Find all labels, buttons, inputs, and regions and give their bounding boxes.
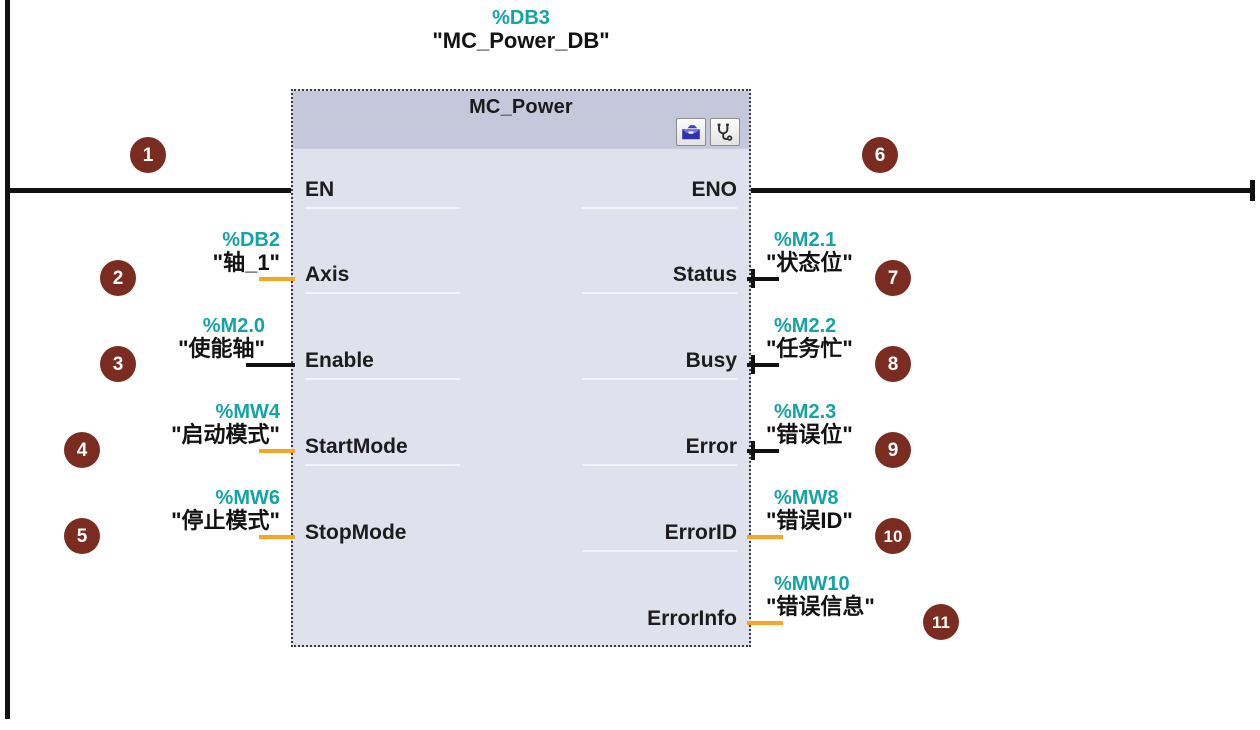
pin-label-stopmode: StopMode <box>305 521 406 545</box>
wire-enable <box>246 363 295 367</box>
rung-en-wire <box>8 188 293 193</box>
db-address: %DB3 <box>291 8 751 29</box>
operand-error[interactable]: %M2.3 "错误位" <box>766 402 853 447</box>
pin-rule-eno <box>582 207 737 209</box>
operand-error-symbol: "错误位" <box>766 423 853 447</box>
operand-errorinfo[interactable]: %MW10 "错误信息" <box>766 574 875 619</box>
callout-badge-2[interactable]: 2 <box>100 260 136 296</box>
db-instance-label: %DB3 "MC_Power_DB" <box>291 8 751 53</box>
stethoscope-icon[interactable] <box>710 118 740 146</box>
callout-badge-10[interactable]: 10 <box>875 518 911 554</box>
pin-label-startmode: StartMode <box>305 435 408 459</box>
callout-badge-9[interactable]: 9 <box>875 432 911 468</box>
operand-errorinfo-address: %MW10 <box>766 574 875 595</box>
pin-label-errorid: ErrorID <box>665 521 737 545</box>
toolbox-icon[interactable] <box>676 118 706 146</box>
operand-enable-address: %M2.0 <box>20 316 265 337</box>
pin-rule-en <box>305 207 460 209</box>
operand-startmode[interactable]: %MW4 "启动模式" <box>20 402 280 447</box>
operand-errorid-address: %MW8 <box>766 488 853 509</box>
operand-startmode-symbol: "启动模式" <box>20 423 280 447</box>
callout-badge-8[interactable]: 8 <box>875 346 911 382</box>
operand-stopmode-address: %MW6 <box>20 488 280 509</box>
operand-startmode-address: %MW4 <box>20 402 280 423</box>
wire-status-tick <box>751 269 755 288</box>
operand-enable[interactable]: %M2.0 "使能轴" <box>20 316 265 361</box>
wire-stopmode <box>259 535 295 539</box>
operand-status-address: %M2.1 <box>766 230 853 251</box>
pin-label-axis: Axis <box>305 263 349 287</box>
callout-badge-1[interactable]: 1 <box>130 137 166 173</box>
operand-stopmode-symbol: "停止模式" <box>20 509 280 533</box>
pin-rule-enable <box>305 378 460 380</box>
pin-label-error: Error <box>686 435 737 459</box>
operand-errorid-symbol: "错误ID" <box>766 509 853 533</box>
db-symbol: "MC_Power_DB" <box>291 29 751 53</box>
pin-label-eno: ENO <box>691 178 737 202</box>
operand-stopmode[interactable]: %MW6 "停止模式" <box>20 488 280 533</box>
pin-rule-axis <box>305 292 460 294</box>
pin-label-enable: Enable <box>305 349 374 373</box>
pin-label-errorinfo: ErrorInfo <box>647 607 737 631</box>
pin-label-status: Status <box>673 263 737 287</box>
operand-status[interactable]: %M2.1 "状态位" <box>766 230 853 275</box>
wire-error-tick <box>751 441 755 460</box>
wire-axis <box>259 277 295 281</box>
operand-axis[interactable]: %DB2 "轴_1" <box>20 230 280 275</box>
rung-end-tick <box>1250 180 1255 201</box>
callout-badge-5[interactable]: 5 <box>64 518 100 554</box>
power-rail-left <box>5 0 10 719</box>
operand-errorid[interactable]: %MW8 "错误ID" <box>766 488 853 533</box>
callout-badge-7[interactable]: 7 <box>875 260 911 296</box>
callout-badge-3[interactable]: 3 <box>100 346 136 382</box>
wire-busy-tick <box>751 355 755 374</box>
function-block-mc-power[interactable]: MC_Power <box>291 89 751 647</box>
operand-error-address: %M2.3 <box>766 402 853 423</box>
pin-rule-startmode <box>305 464 460 466</box>
callout-badge-4[interactable]: 4 <box>64 432 100 468</box>
callout-badge-11[interactable]: 11 <box>923 604 959 640</box>
wire-errorid <box>747 535 783 539</box>
function-block-title: MC_Power <box>293 96 749 119</box>
pin-label-en: EN <box>305 178 334 202</box>
operand-busy[interactable]: %M2.2 "任务忙" <box>766 316 853 361</box>
pin-rule-errorid <box>582 550 737 552</box>
operand-errorinfo-symbol: "错误信息" <box>766 595 875 619</box>
operand-busy-address: %M2.2 <box>766 316 853 337</box>
rung-eno-wire <box>735 188 1253 193</box>
operand-axis-address: %DB2 <box>20 230 280 251</box>
operand-enable-symbol: "使能轴" <box>20 337 265 361</box>
operand-status-symbol: "状态位" <box>766 251 853 275</box>
pin-label-busy: Busy <box>686 349 737 373</box>
wire-errorinfo <box>747 621 783 625</box>
pin-rule-busy <box>582 378 737 380</box>
wire-startmode <box>259 449 295 453</box>
operand-busy-symbol: "任务忙" <box>766 337 853 361</box>
pin-rule-error <box>582 464 737 466</box>
pin-rule-status <box>582 292 737 294</box>
callout-badge-6[interactable]: 6 <box>862 137 898 173</box>
operand-axis-symbol: "轴_1" <box>20 251 280 275</box>
function-block-icon-group <box>676 118 740 146</box>
ladder-diagram-canvas: %DB3 "MC_Power_DB" MC_Power <box>0 0 1260 730</box>
